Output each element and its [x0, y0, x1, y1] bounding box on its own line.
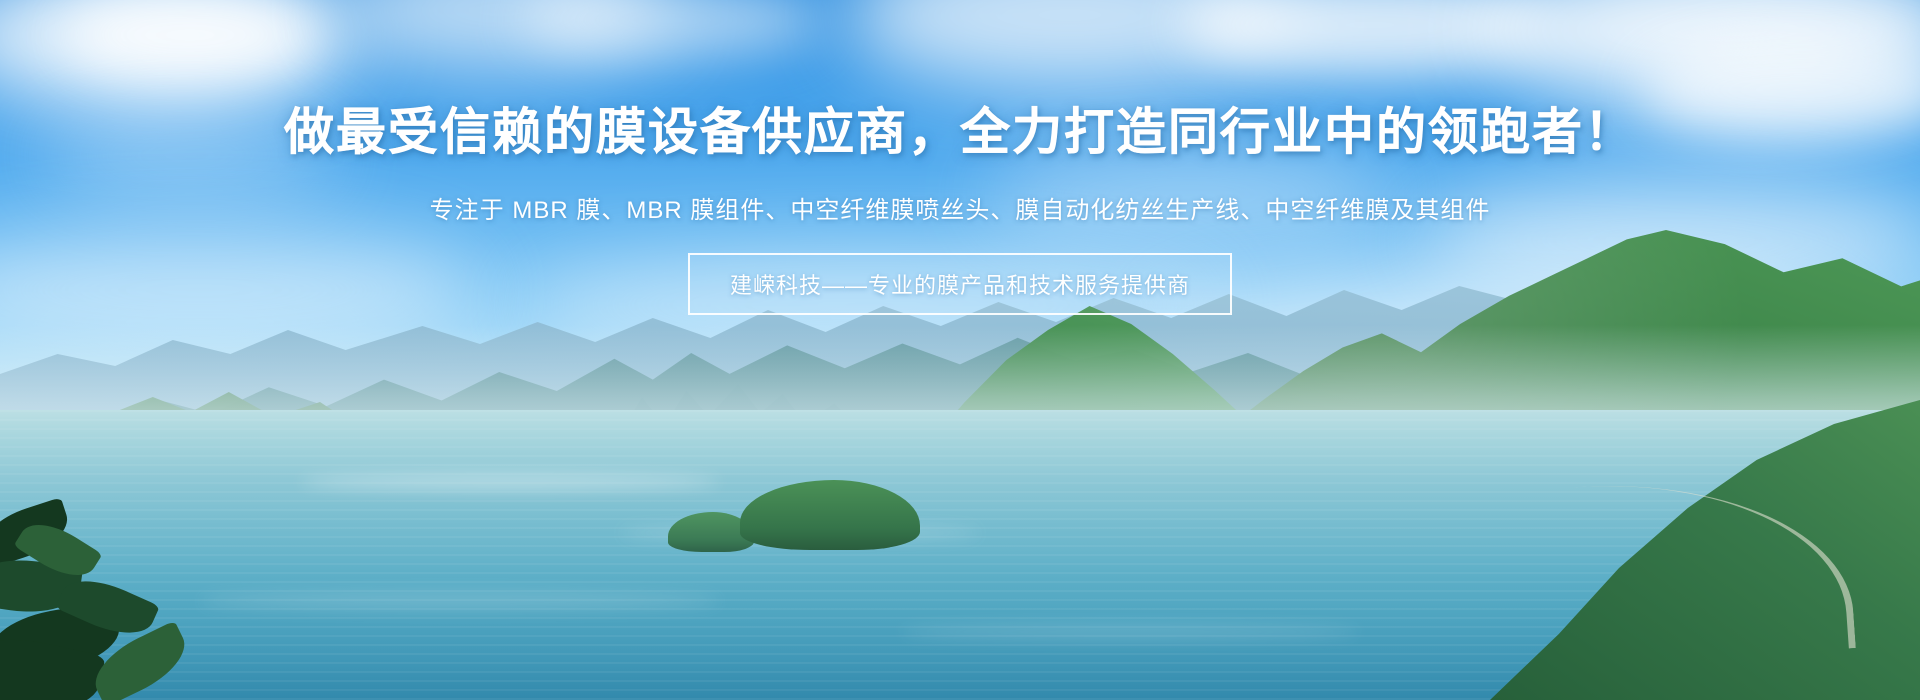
hero-banner: 做最受信赖的膜设备供应商，全力打造同行业中的领跑者！ 专注于 MBR 膜、MBR…	[0, 0, 1920, 700]
water-shimmer	[900, 624, 1360, 640]
foreground-foliage	[0, 490, 220, 700]
water-shimmer	[300, 474, 720, 490]
banner-tagline-box[interactable]: 建嵘科技——专业的膜产品和技术服务提供商	[688, 253, 1232, 315]
cloud-shape	[980, 150, 1400, 240]
water-shimmer	[200, 592, 720, 610]
cloud-shape	[40, 120, 340, 190]
